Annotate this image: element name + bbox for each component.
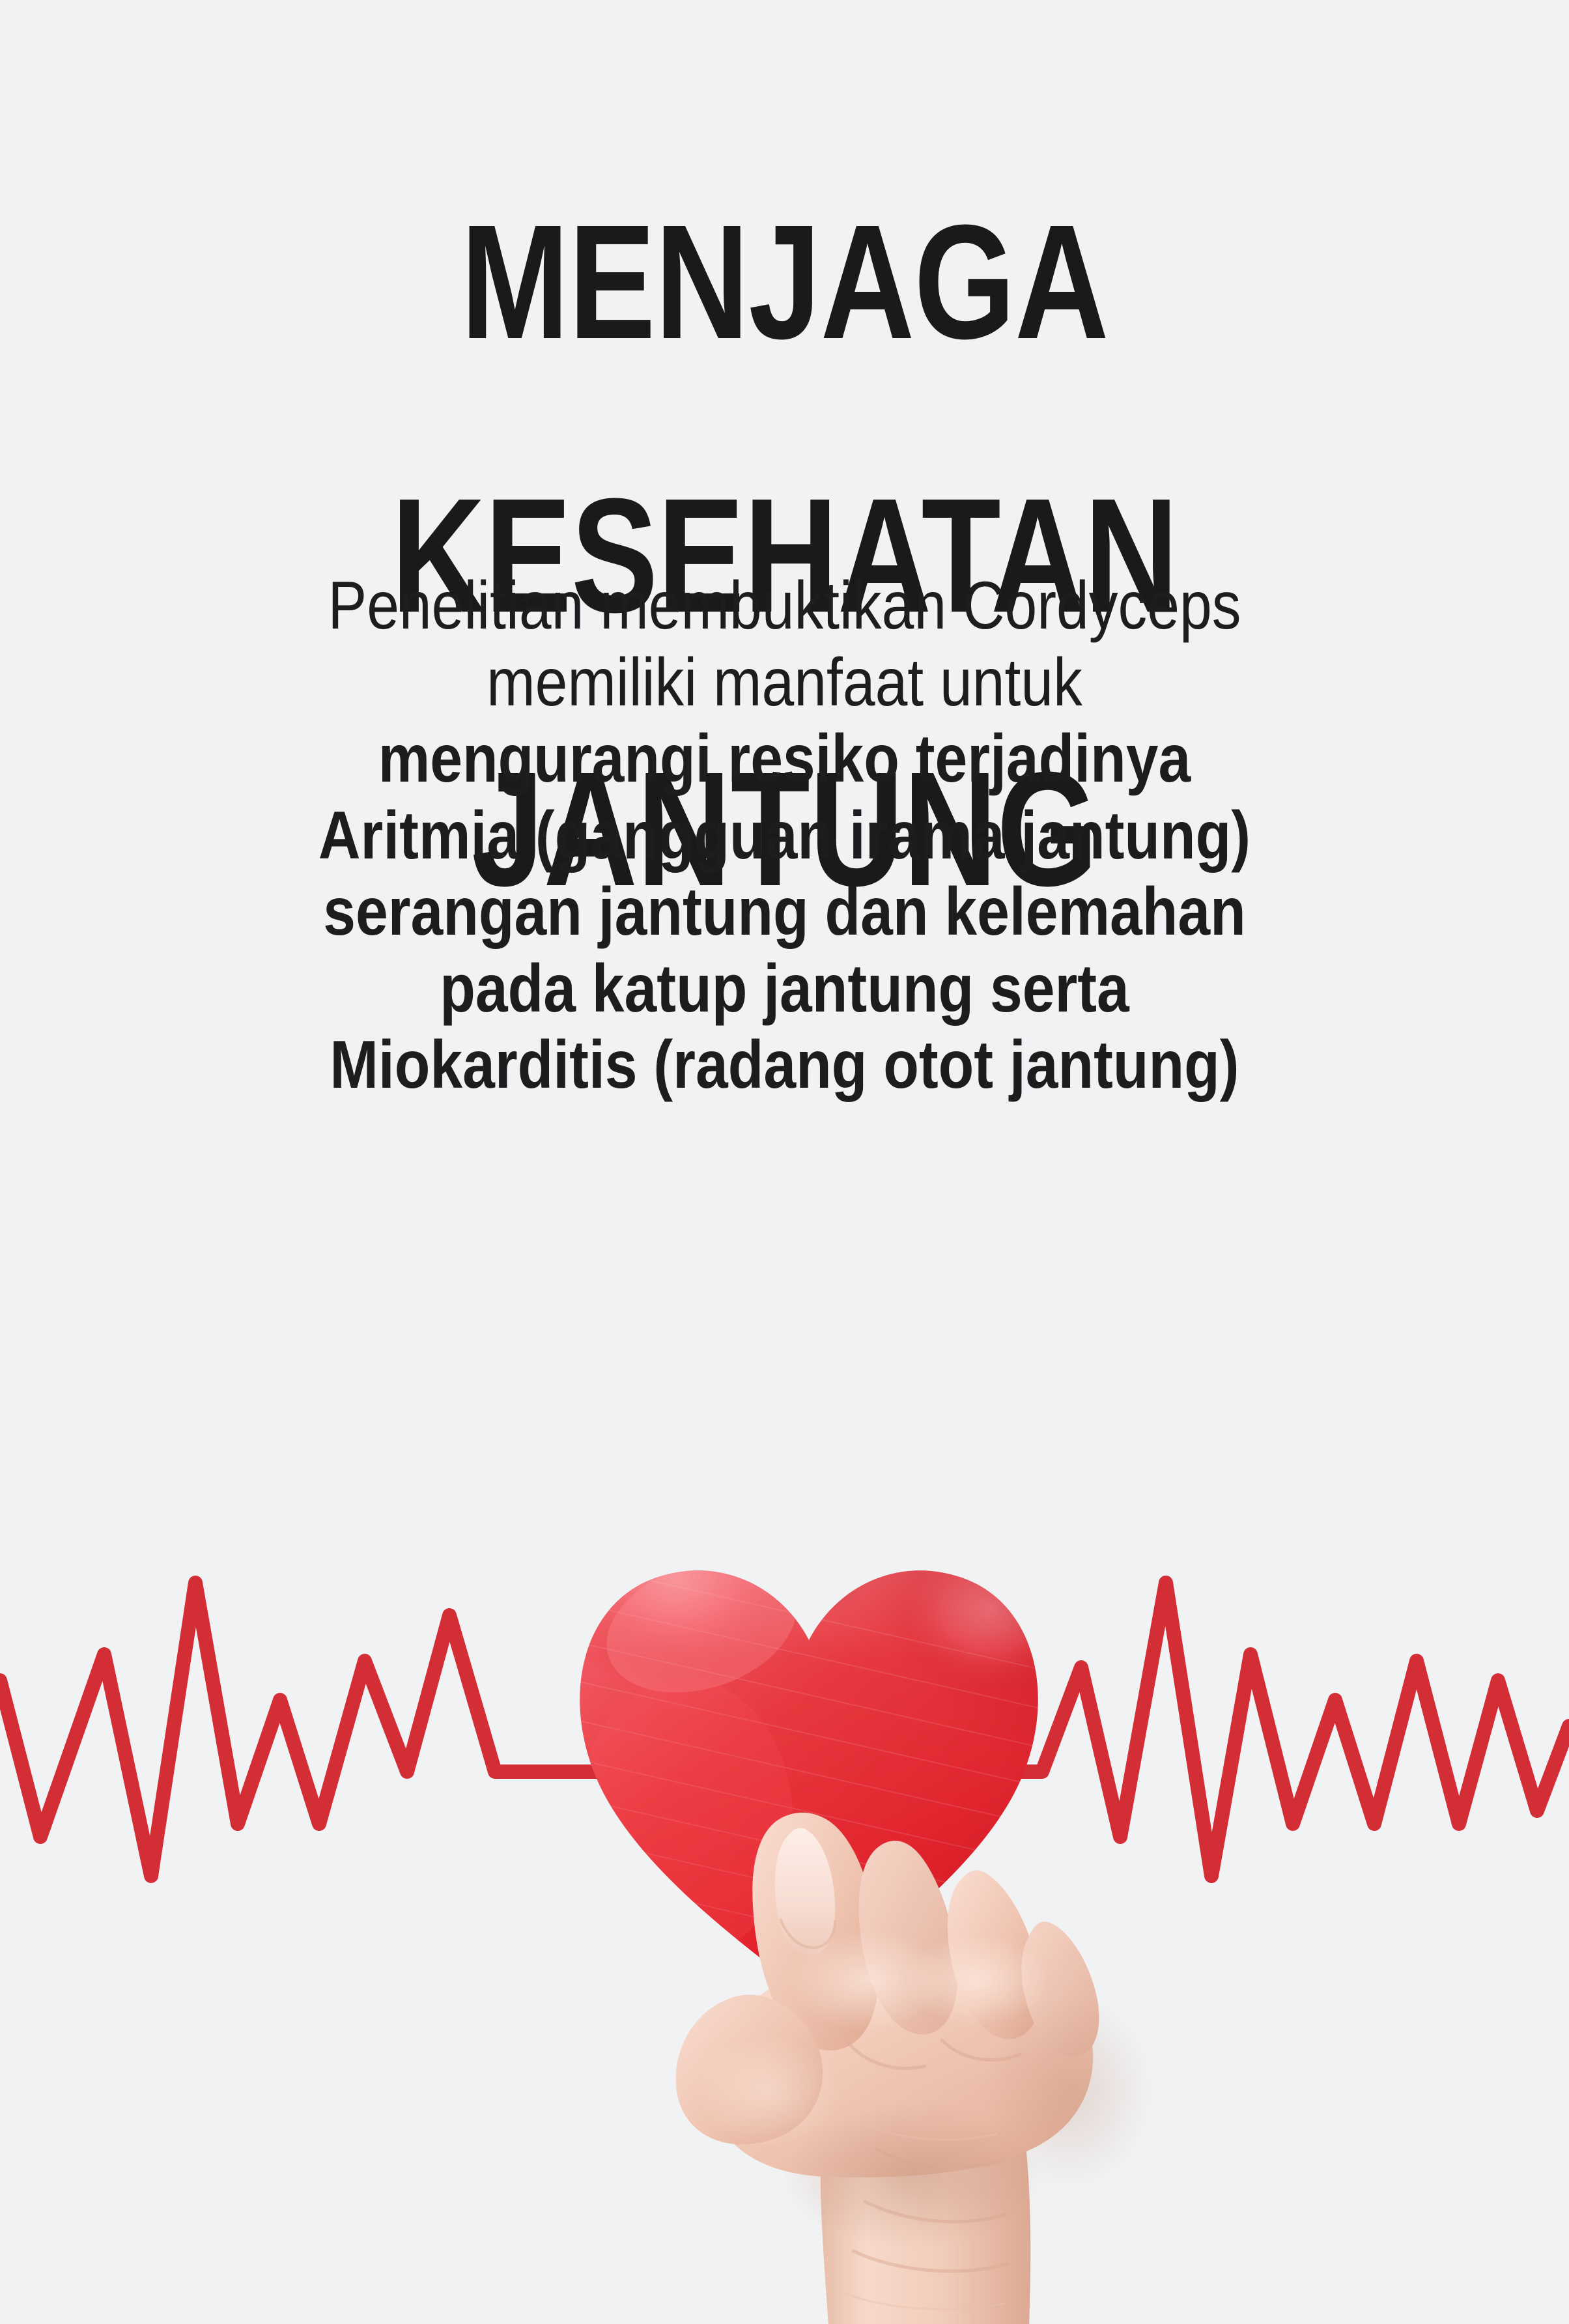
poster-canvas: MENJAGA KESEHATAN JANTUNG Penelitian mem… (0, 0, 1569, 2324)
body-line-6: pada katup jantung serta (110, 951, 1460, 1028)
body-copy: Penelitian membuktikan Cordyceps memilik… (110, 568, 1460, 1104)
body-line-3: mengurangi resiko terjadinya (110, 721, 1460, 798)
hand-icon (573, 1785, 1224, 2324)
body-line-4: Aritmia (gangguan irama jantung) (110, 798, 1460, 875)
body-line-7: Miokarditis (radang otot jantung) (110, 1027, 1460, 1104)
headline-line-1: MENJAGA (157, 214, 1412, 350)
artwork-area (0, 1420, 1569, 2324)
body-line-2: memiliki manfaat untuk (110, 645, 1460, 722)
body-line-1: Penelitian membuktikan Cordyceps (110, 568, 1460, 645)
body-line-5: serangan jantung dan kelemahan (110, 874, 1460, 951)
